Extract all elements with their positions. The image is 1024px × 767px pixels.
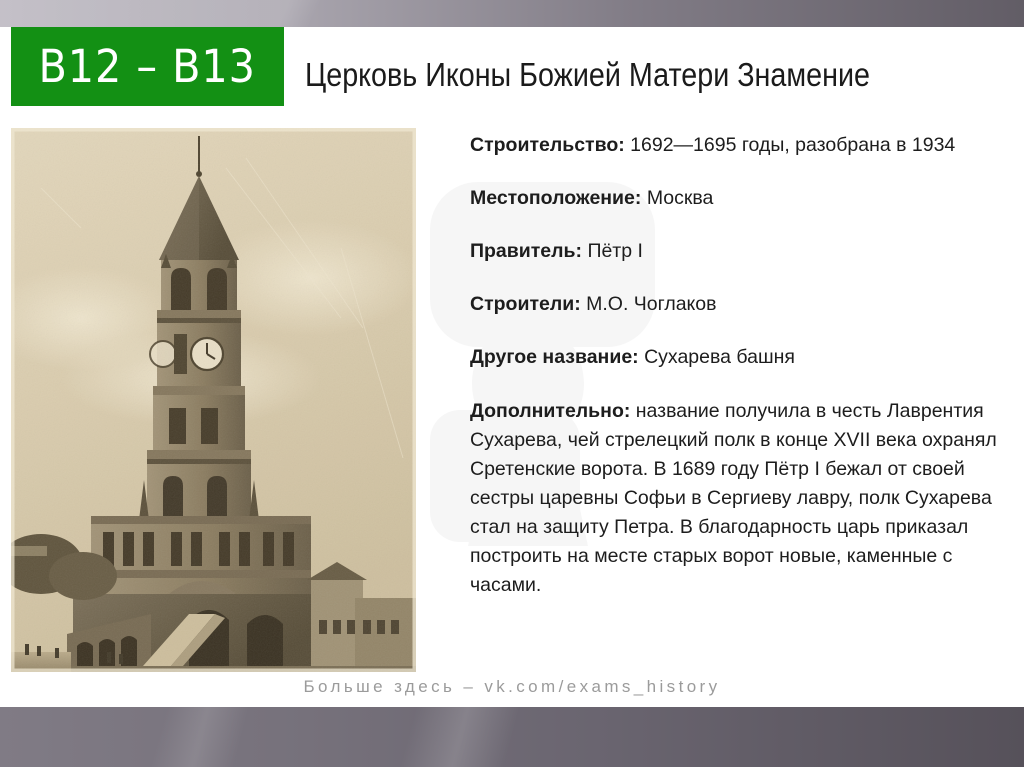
fact-ruler-key: Правитель: <box>470 240 582 262</box>
fact-other-name-key: Другое название: <box>470 346 639 368</box>
fact-construction-value: 1692—1695 годы, разобрана в 1934 <box>630 134 955 156</box>
footer-source-link[interactable]: Больше здесь – vk.com/exams_history <box>0 677 1024 697</box>
fact-construction: Строительство: 1692—1695 годы, разобрана… <box>470 132 1010 158</box>
fact-location-value: Москва <box>647 187 714 209</box>
section-badge: B12 – B13 <box>11 27 284 106</box>
fact-list: Строительство: 1692—1695 годы, разобрана… <box>470 132 1010 600</box>
fact-ruler: Правитель: Пётр I <box>470 238 1010 264</box>
historic-photo <box>11 128 416 672</box>
fact-construction-key: Строительство: <box>470 134 625 156</box>
fact-builders-value: М.О. Чоглаков <box>586 293 716 315</box>
page-title: Церковь Иконы Божией Матери Знамение <box>305 55 914 95</box>
section-badge-label: B12 – B13 <box>39 44 256 89</box>
fact-location: Местоположение: Москва <box>470 185 1010 211</box>
fact-location-key: Местоположение: <box>470 187 641 209</box>
fact-additional: Дополнительно: название получила в честь… <box>470 397 1010 600</box>
bottom-gradient-bar <box>0 707 1024 767</box>
fact-additional-key: Дополнительно: <box>470 400 630 422</box>
top-gradient-bar <box>0 0 1024 27</box>
fact-additional-value: название получила в честь Лаврентия Суха… <box>470 400 997 596</box>
historic-photo-image <box>11 128 416 672</box>
fact-builders-key: Строители: <box>470 293 581 315</box>
fact-other-name-value: Сухарева башня <box>644 346 795 368</box>
fact-builders: Строители: М.О. Чоглаков <box>470 291 1010 317</box>
fact-ruler-value: Пётр I <box>587 240 642 262</box>
slide-root: B12 – B13 Церковь Иконы Божией Матери Зн… <box>0 0 1024 767</box>
fact-other-name: Другое название: Сухарева башня <box>470 344 1010 370</box>
